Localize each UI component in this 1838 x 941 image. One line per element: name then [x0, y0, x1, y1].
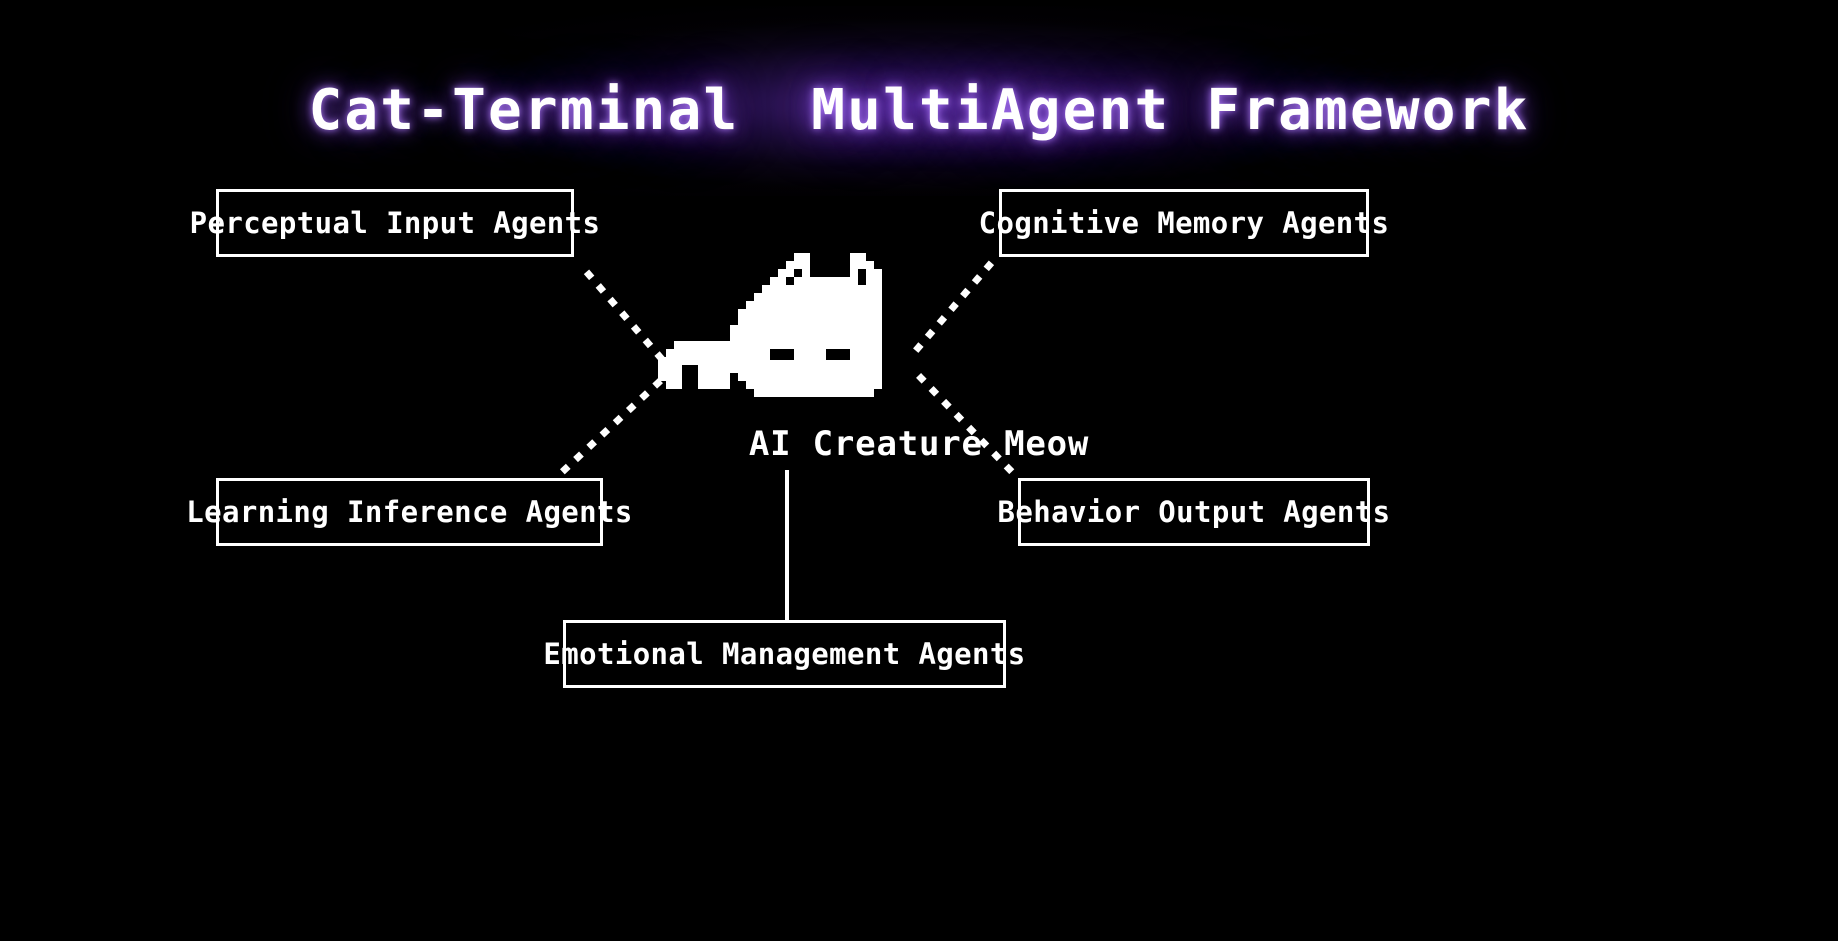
node-cognitive-memory-agents[interactable]: Cognitive Memory Agents [999, 189, 1369, 257]
connector-center-to-perceptual [578, 262, 660, 357]
node-behavior-output-agents[interactable]: Behavior Output Agents [1018, 478, 1370, 546]
center-label: AI Creature Meow [0, 427, 1838, 461]
node-label: Perceptual Input Agents [190, 209, 601, 238]
pixel-cat-sprite [658, 253, 906, 413]
node-emotional-management-agents[interactable]: Emotional Management Agents [563, 620, 1006, 688]
node-label: Learning Inference Agents [186, 498, 633, 527]
page-title: Cat-Terminal MultiAgent Framework [0, 83, 1838, 139]
node-label: Behavior Output Agents [998, 498, 1391, 527]
node-label: Emotional Management Agents [543, 640, 1025, 669]
node-perceptual-input-agents[interactable]: Perceptual Input Agents [216, 189, 574, 257]
node-label: Cognitive Memory Agents [979, 209, 1390, 238]
node-learning-inference-agents[interactable]: Learning Inference Agents [216, 478, 603, 546]
connector-center-to-cognitive [918, 261, 993, 348]
diagram-canvas: Cat-Terminal MultiAgent Framework [0, 0, 1838, 941]
